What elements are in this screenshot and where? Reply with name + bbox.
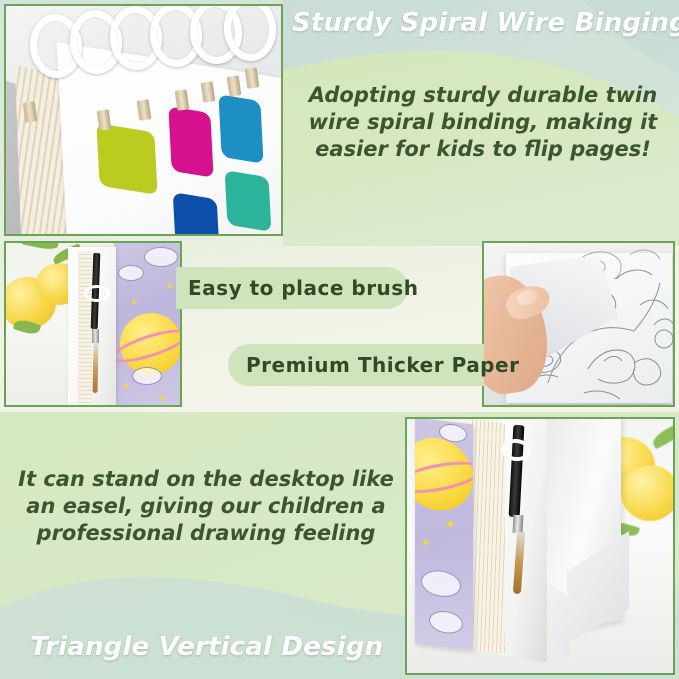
wire-clip: [201, 81, 216, 102]
space-themed-cover: ★ ★ ★ ★: [114, 243, 180, 405]
paragraph-easel: It can stand on the desktop like an ease…: [10, 466, 402, 547]
speech-bubble: [132, 367, 162, 385]
label-premium-thicker-paper: Premium Thicker Paper: [228, 344, 484, 386]
infographic-page: ★ ★ ★ ★: [0, 0, 679, 679]
paragraph-binding: Adopting sturdy durable twin wire spiral…: [292, 82, 674, 163]
heading-triangle-design: Triangle Vertical Design: [30, 632, 383, 662]
photo-easel-stand: ★ ★: [405, 417, 675, 675]
photo-page-flip: [482, 241, 675, 407]
wire-clip: [23, 101, 38, 122]
swatch-magenta: [168, 106, 213, 177]
swatch-teal: [225, 170, 272, 232]
space-themed-cover: ★ ★: [415, 419, 473, 651]
swatch-blue: [218, 94, 263, 163]
wire-clip: [97, 109, 112, 130]
swatch-lime: [96, 123, 157, 195]
speech-bubble: [118, 265, 144, 281]
lemon: [621, 465, 673, 521]
speech-bubble: [429, 609, 463, 635]
wire-clip: [227, 75, 242, 96]
wire-loop: [84, 285, 110, 302]
wire-clip: [137, 99, 152, 120]
photo-brush-holder: ★ ★ ★ ★: [4, 241, 182, 407]
wire-clip: [245, 67, 260, 88]
speech-bubble: [421, 568, 461, 599]
label-easy-to-place-brush: Easy to place brush: [176, 267, 408, 309]
wire-clip: [175, 89, 190, 110]
speech-bubble: [144, 247, 178, 267]
heading-spiral-binding: Sturdy Spiral Wire Binging: [292, 8, 679, 38]
photo-spiral-binding: [4, 4, 283, 236]
